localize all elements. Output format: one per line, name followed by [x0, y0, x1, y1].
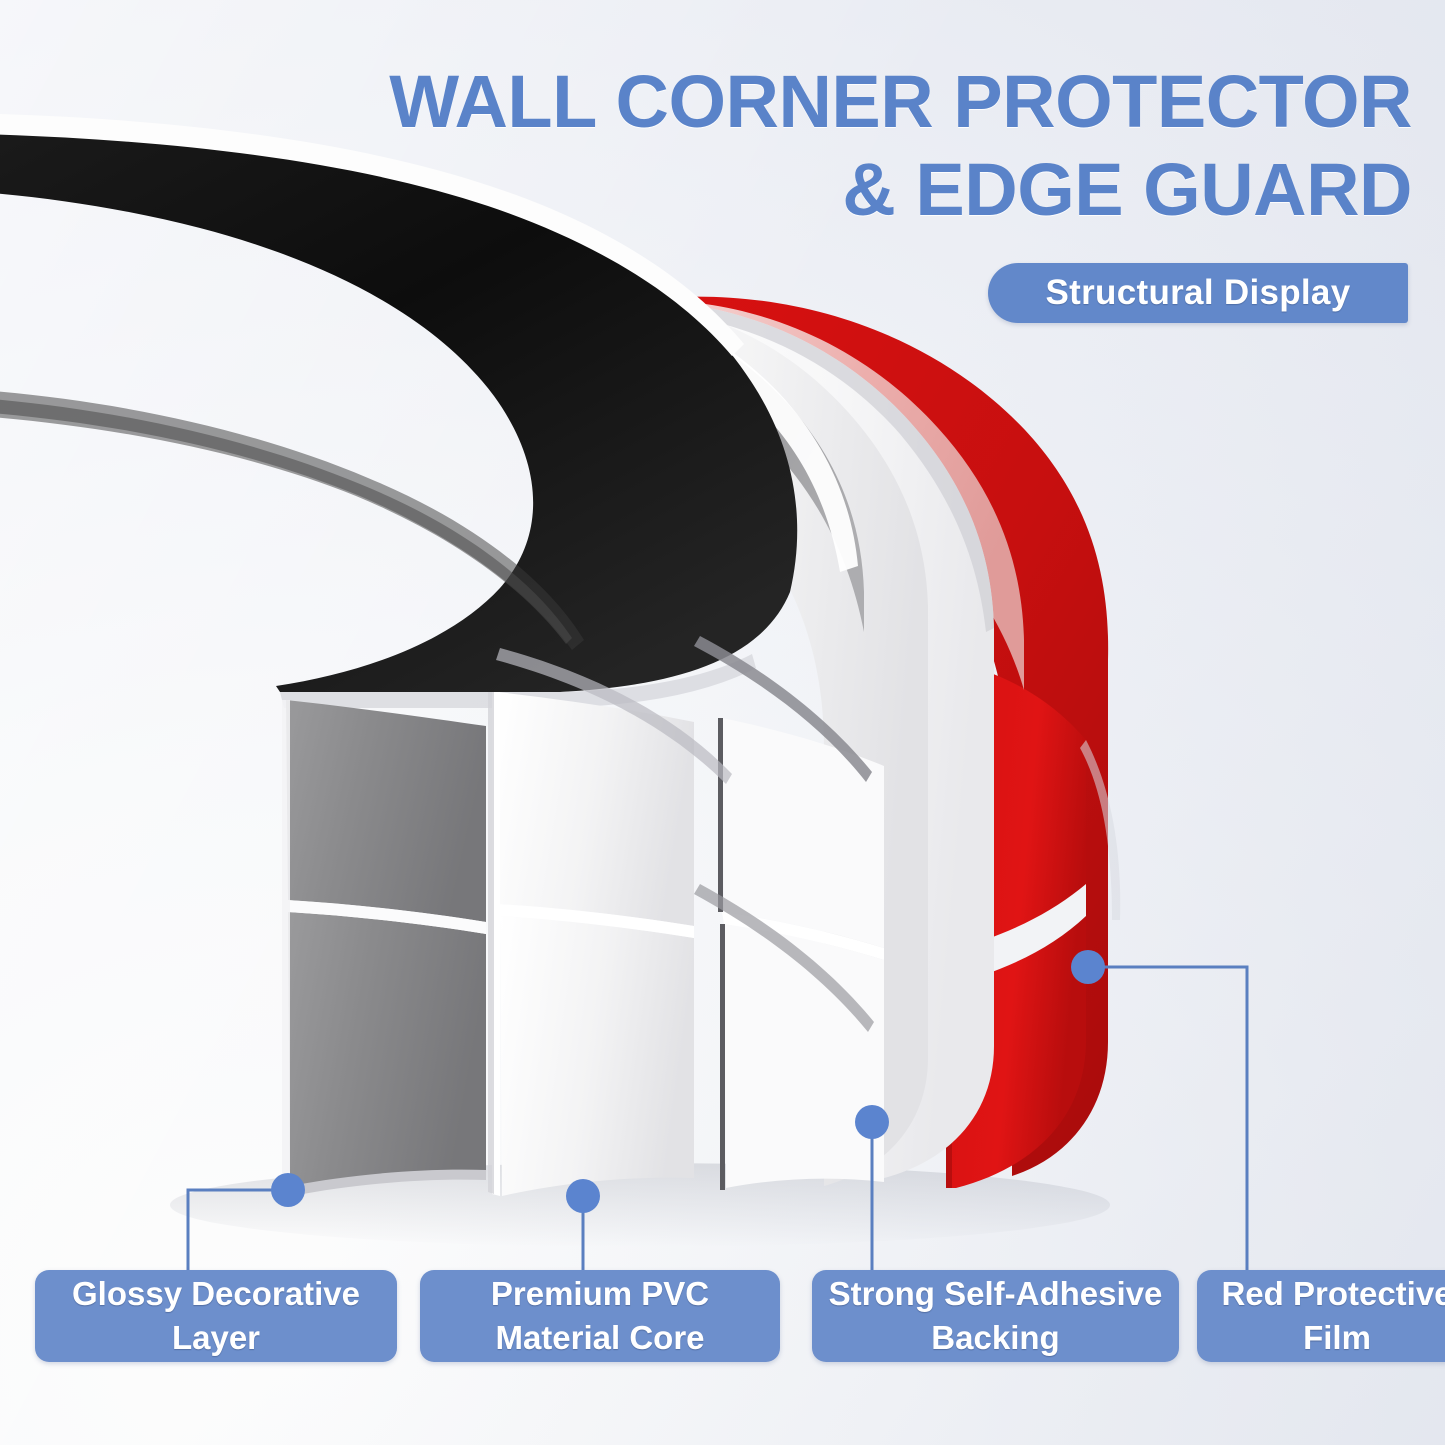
- structural-display-badge: Structural Display: [988, 263, 1408, 323]
- callout-label-line-4a: Red Protective Film: [1221, 1275, 1445, 1356]
- page-title: WALL CORNER PROTECTOR & EDGE GUARD: [0, 58, 1412, 234]
- structural-display-badge-label: Structural Display: [1046, 273, 1351, 313]
- adhesive-panel-left-border-upper: [718, 718, 723, 912]
- pvc-panel-lower: [500, 916, 694, 1196]
- grey-panel-upper: [286, 700, 486, 922]
- title-line-1: WALL CORNER PROTECTOR: [0, 58, 1412, 146]
- grey-panel-left-lip: [282, 700, 290, 1188]
- callout-label-line-3a: Strong Self-Adhesive: [829, 1275, 1163, 1312]
- callout-label-line-1b: Layer: [172, 1319, 260, 1356]
- callout-label-glossy-decorative-layer: Glossy Decorative Layer: [35, 1270, 397, 1362]
- title-line-2: & EDGE GUARD: [0, 146, 1412, 234]
- adhesive-panel-left-border-lower: [720, 924, 725, 1190]
- callout-label-red-protective-film: Red Protective Film: [1197, 1270, 1445, 1362]
- callout-label-premium-pvc-material-core: Premium PVC Material Core: [420, 1270, 780, 1362]
- callout-label-text-1: Glossy Decorative Layer: [72, 1272, 360, 1360]
- infographic-canvas: WALL CORNER PROTECTOR & EDGE GUARD Struc…: [0, 0, 1445, 1445]
- callout-label-strong-self-adhesive-backing: Strong Self-Adhesive Backing: [812, 1270, 1179, 1362]
- callout-label-text-4: Red Protective Film: [1207, 1272, 1445, 1360]
- callout-label-text-2: Premium PVC Material Core: [491, 1272, 709, 1360]
- callout-label-line-1a: Glossy Decorative: [72, 1275, 360, 1312]
- callout-label-line-2b: Material Core: [495, 1319, 704, 1356]
- pvc-panel-left-shade: [488, 692, 494, 1194]
- grey-panel-lower: [288, 912, 486, 1188]
- callout-label-line-3b: Backing: [931, 1319, 1059, 1356]
- callout-label-line-2a: Premium PVC: [491, 1275, 709, 1312]
- callout-label-text-3: Strong Self-Adhesive Backing: [829, 1272, 1163, 1360]
